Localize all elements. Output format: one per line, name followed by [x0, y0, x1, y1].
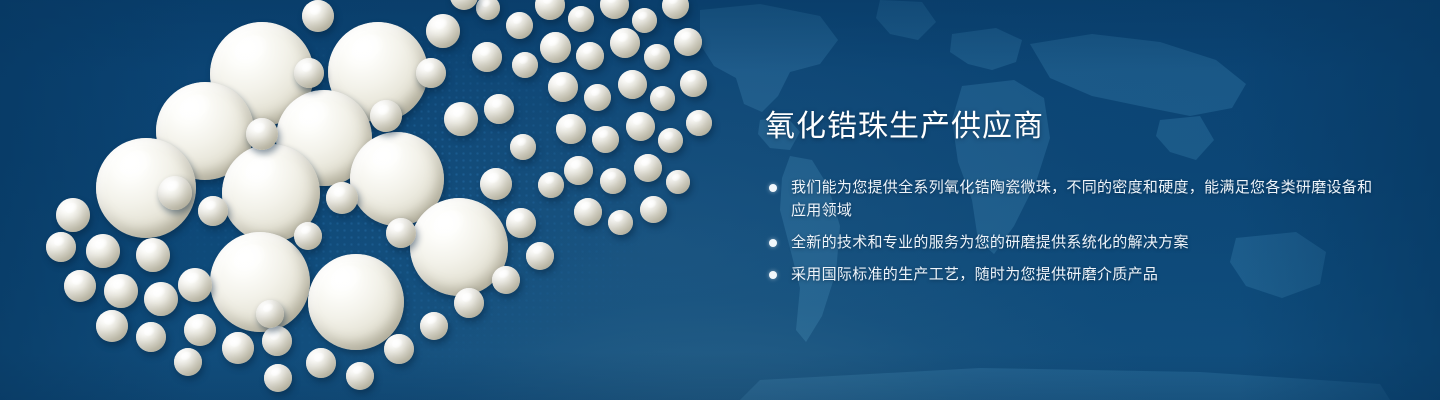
bead [144, 282, 178, 316]
bead [450, 0, 478, 10]
list-item-label: 我们能为您提供全系列氧化锆陶瓷微珠，不同的密度和硬度，能满足您各类研磨设备和应用… [791, 179, 1372, 219]
bead [662, 0, 689, 19]
page-title: 氧化锆珠生产供应商 [765, 108, 1385, 146]
bead [370, 100, 402, 132]
banner-copy: 氧化锆珠生产供应商 我们能为您提供全系列氧化锆陶瓷微珠，不同的密度和硬度，能满足… [765, 108, 1385, 286]
feature-list: 我们能为您提供全系列氧化锆陶瓷微珠，不同的密度和硬度，能满足您各类研磨设备和应用… [765, 176, 1385, 286]
bead [540, 32, 571, 63]
bead [198, 196, 228, 226]
bead [564, 156, 593, 185]
bead [556, 114, 586, 144]
bead [444, 102, 478, 136]
bead [294, 58, 324, 88]
bead [480, 168, 512, 200]
bead [420, 312, 448, 340]
bead [600, 168, 626, 194]
bead [86, 234, 120, 268]
bead [386, 218, 416, 248]
bead [526, 242, 554, 270]
bead [136, 238, 170, 272]
list-item: 全新的技术和专业的服务为您的研磨提供系统化的解决方案 [765, 231, 1385, 254]
bead [64, 270, 96, 302]
bead [535, 0, 565, 20]
bead [326, 182, 358, 214]
bead [46, 232, 76, 262]
bead [426, 14, 460, 48]
bead [178, 268, 212, 302]
hero-banner: 氧化锆珠生产供应商 我们能为您提供全系列氧化锆陶瓷微珠，不同的密度和硬度，能满足… [0, 0, 1440, 400]
bullet-dot-icon [769, 239, 777, 247]
bead [608, 210, 633, 235]
bead [174, 348, 202, 376]
bead [592, 126, 619, 153]
bead [264, 364, 292, 392]
bead [306, 348, 336, 378]
bead [686, 110, 712, 136]
bead [262, 326, 292, 356]
bead [384, 334, 414, 364]
bead [512, 52, 538, 78]
bead [136, 322, 166, 352]
bead [574, 198, 602, 226]
bead [666, 170, 690, 194]
bead [104, 274, 138, 308]
bead [640, 196, 667, 223]
bead [454, 288, 484, 318]
bead [476, 0, 500, 20]
bead [568, 6, 594, 32]
bead [658, 128, 683, 153]
zirconia-beads-photo [40, 0, 740, 400]
bead [548, 72, 578, 102]
bead [632, 8, 657, 33]
bead [96, 310, 128, 342]
bead [674, 28, 702, 56]
bead [644, 44, 670, 70]
bead [416, 58, 446, 88]
bead [510, 134, 536, 160]
bead [584, 84, 611, 111]
list-item: 采用国际标准的生产工艺，随时为您提供研磨介质产品 [765, 263, 1385, 286]
bead [492, 266, 520, 294]
bead [484, 94, 514, 124]
bead [184, 314, 216, 346]
bead [680, 70, 707, 97]
bead [158, 176, 192, 210]
bead [626, 112, 655, 141]
bead-cluster [40, 0, 740, 400]
bead [618, 70, 647, 99]
bead [56, 198, 90, 232]
list-item-label: 采用国际标准的生产工艺，随时为您提供研磨介质产品 [791, 266, 1158, 283]
bullet-dot-icon [769, 271, 777, 279]
bullet-dot-icon [769, 184, 777, 192]
bead [346, 362, 374, 390]
list-item: 我们能为您提供全系列氧化锆陶瓷微珠，不同的密度和硬度，能满足您各类研磨设备和应用… [765, 176, 1385, 222]
list-item-label: 全新的技术和专业的服务为您的研磨提供系统化的解决方案 [791, 234, 1189, 251]
bead [472, 42, 502, 72]
bead [600, 0, 629, 19]
bead [538, 172, 564, 198]
bead [650, 86, 675, 111]
bead [506, 12, 533, 39]
bead [506, 208, 536, 238]
bead [294, 222, 322, 250]
bead [302, 0, 334, 32]
bead [246, 118, 278, 150]
bead [610, 28, 640, 58]
bead [634, 154, 662, 182]
bead [256, 300, 284, 328]
bead [222, 332, 254, 364]
bead [576, 42, 604, 70]
